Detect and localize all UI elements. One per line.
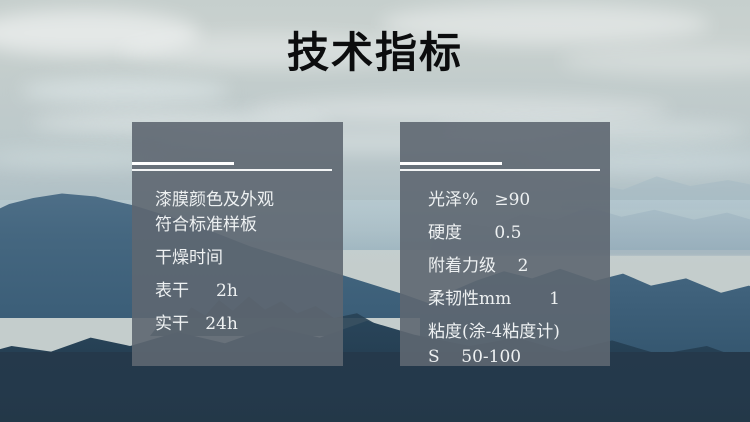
spec-block: 光泽% ≥90 <box>428 188 638 213</box>
spec-block: 干燥时间 <box>155 246 366 271</box>
spec-block: 实干 24h <box>155 312 366 337</box>
spec-block: 粘度(涂-4粘度计) S 50-100 <box>428 320 638 370</box>
spec-line: 表干 2h <box>155 279 366 304</box>
page-title: 技术指标 <box>0 26 750 80</box>
spec-block: 柔韧性mm 1 <box>428 287 638 312</box>
spec-line: 漆膜颜色及外观 <box>155 188 366 213</box>
panel-left-body: 漆膜颜色及外观 符合标准样板 干燥时间 表干 2h 实干 24h <box>132 188 366 337</box>
panel-rule-short <box>400 162 502 165</box>
spec-line: 干燥时间 <box>155 246 366 271</box>
spec-line: S 50-100 <box>428 345 638 370</box>
spec-block: 附着力级 2 <box>428 254 638 279</box>
spec-line: 光泽% ≥90 <box>428 188 638 213</box>
content-panel-right: 光泽% ≥90 硬度 0.5 附着力级 2 柔韧性mm 1 粘度(涂-4粘度计)… <box>400 122 610 366</box>
content-panel-left: 漆膜颜色及外观 符合标准样板 干燥时间 表干 2h 实干 24h <box>132 122 343 366</box>
spec-line: 粘度(涂-4粘度计) <box>428 320 638 345</box>
spec-line: 符合标准样板 <box>155 213 366 238</box>
spec-block: 硬度 0.5 <box>428 221 638 246</box>
spec-line: 实干 24h <box>155 312 366 337</box>
spec-line: 柔韧性mm 1 <box>428 287 638 312</box>
spec-line: 附着力级 2 <box>428 254 638 279</box>
panel-rule-long <box>132 169 332 171</box>
panel-right-body: 光泽% ≥90 硬度 0.5 附着力级 2 柔韧性mm 1 粘度(涂-4粘度计)… <box>400 188 638 370</box>
panel-rule-short <box>132 162 234 165</box>
slide-canvas: 技术指标 漆膜颜色及外观 符合标准样板 干燥时间 表干 2h 实干 24h <box>0 0 750 422</box>
spec-block: 漆膜颜色及外观 符合标准样板 <box>155 188 366 238</box>
panel-rule-long <box>400 169 600 171</box>
spec-block: 表干 2h <box>155 279 366 304</box>
spec-line: 硬度 0.5 <box>428 221 638 246</box>
